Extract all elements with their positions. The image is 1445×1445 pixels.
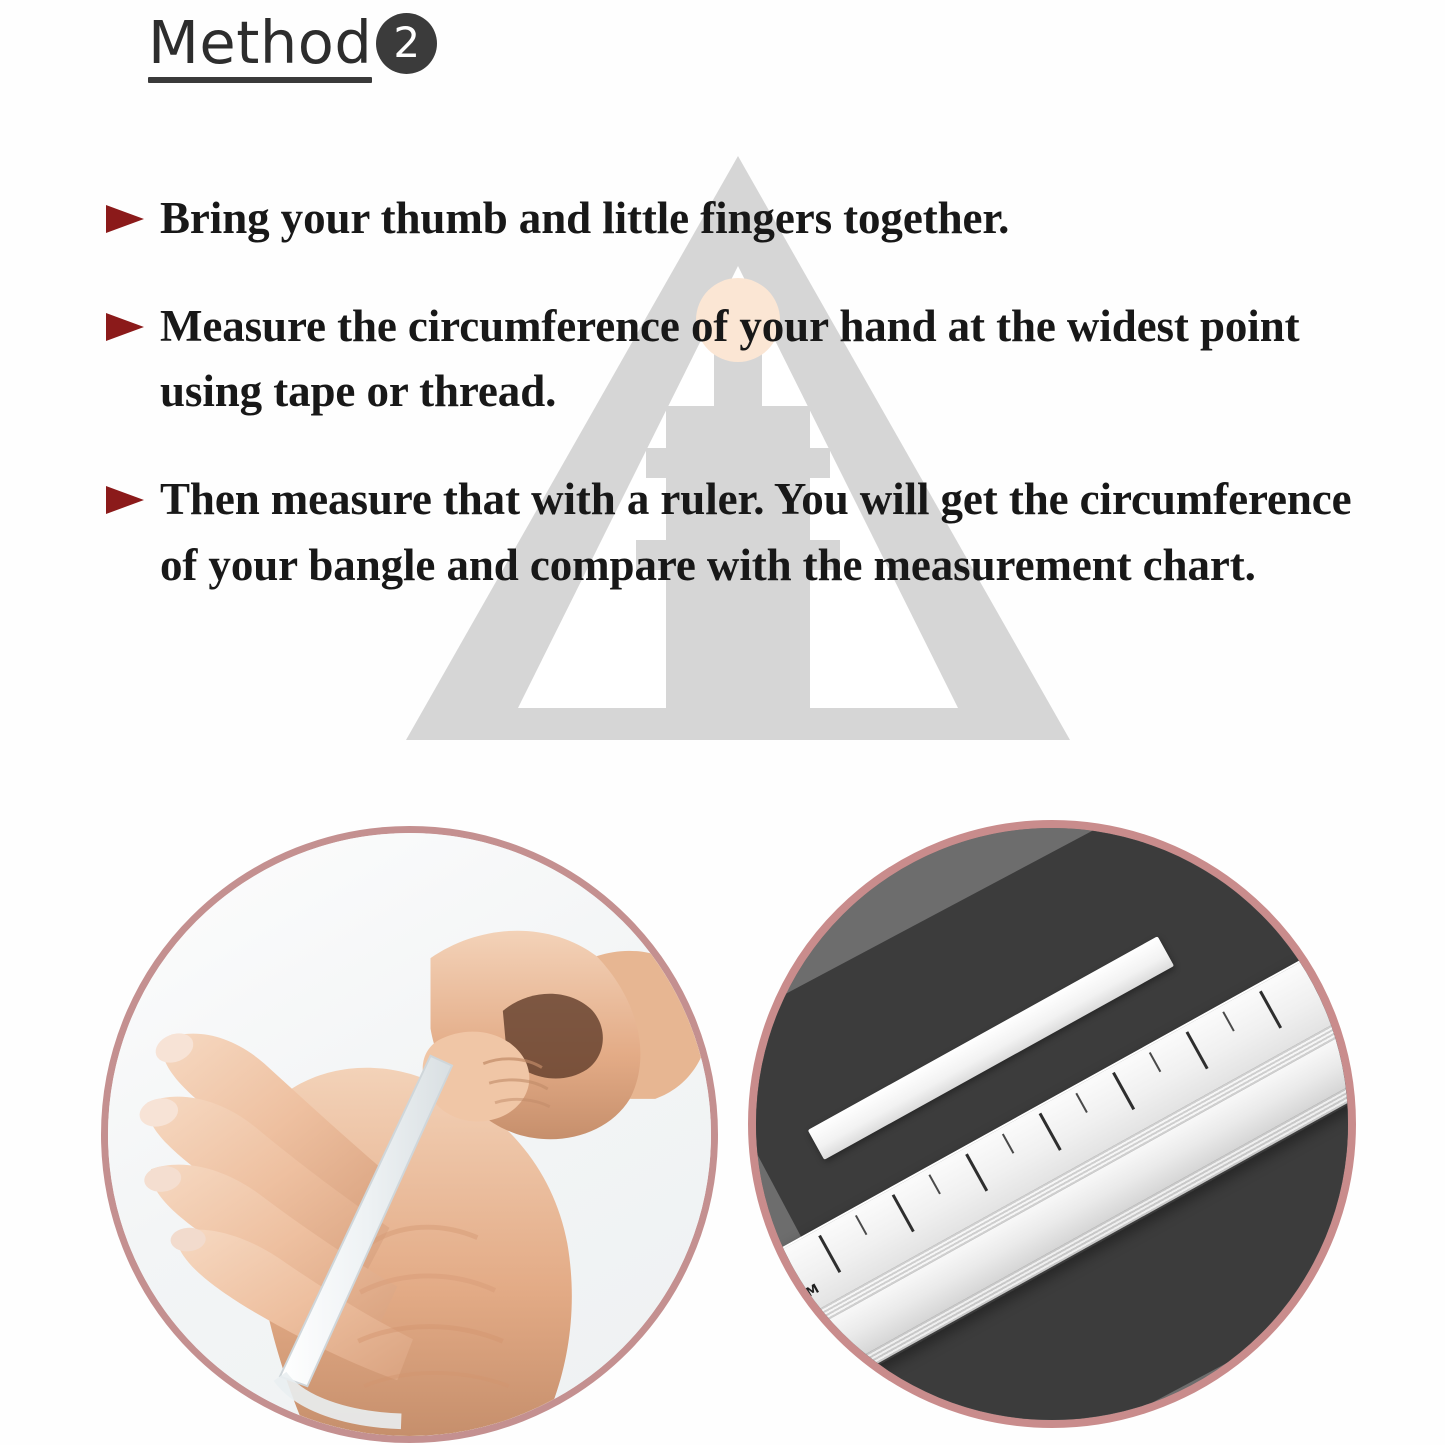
measurement-guide-page: Method 2 Bring your thumb and little fin… [0,0,1445,1445]
ruler-tick [818,1235,841,1273]
ruler-unit-label: CM [795,1281,823,1306]
method-number-badge: 2 [376,13,437,74]
photo-row: CM [0,806,1445,1445]
ruler-tick-minor [1075,1093,1087,1113]
hand-scene [108,833,711,1436]
ruler-tick [1112,1072,1135,1110]
title-with-underline: Method [148,12,372,83]
ruler-measurement-photo: CM [748,820,1356,1428]
hand-measurement-photo [101,826,718,1443]
ruler-tick [965,1153,988,1191]
arrow-bullet-icon [104,294,160,344]
ruler-tick-minor [1222,1011,1234,1031]
ruler-tick-minor [1002,1134,1014,1154]
ruler-tick [892,1194,915,1232]
list-item: Then measure that with a ruler. You will… [104,467,1374,598]
instruction-list: Bring your thumb and little fingers toge… [104,186,1374,640]
ruler-tick [1039,1113,1062,1151]
ruler-tick-minor [928,1174,940,1194]
list-item: Bring your thumb and little fingers toge… [104,186,1374,252]
ruler-tick [1259,990,1282,1028]
arrow-bullet-icon [104,467,160,517]
instruction-text: Measure the circumference of your hand a… [160,294,1374,425]
title-text: Method [148,12,372,74]
title-underline [148,77,372,83]
instruction-text: Then measure that with a ruler. You will… [160,467,1374,598]
ruler-tick-minor [855,1215,867,1235]
ruler-tick [1186,1031,1209,1069]
page-title: Method 2 [148,12,437,83]
ruler-scene: CM [756,828,1348,1420]
list-item: Measure the circumference of your hand a… [104,294,1374,425]
instruction-text: Bring your thumb and little fingers toge… [160,186,1009,252]
ruler-tick-minor [1149,1052,1161,1072]
arrow-bullet-icon [104,186,160,236]
